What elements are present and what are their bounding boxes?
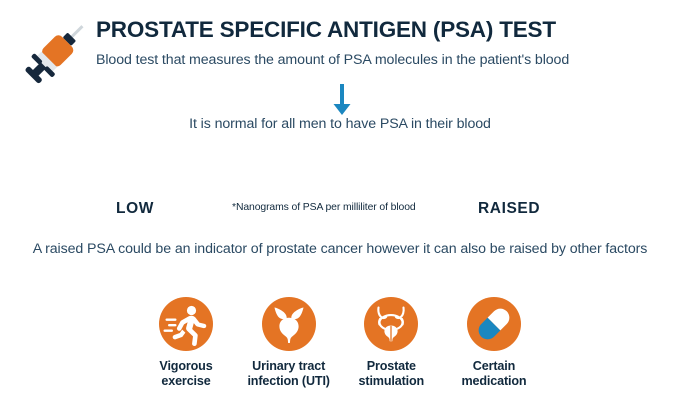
factor-icon-circle: [262, 297, 316, 351]
scale-low-label: LOW: [116, 200, 154, 218]
bladder-icon: [262, 297, 316, 351]
factor-icon-circle: [364, 297, 418, 351]
scale-footnote: *Nanograms of PSA per milliliter of bloo…: [232, 202, 416, 213]
prostate-icon: [364, 297, 418, 351]
scale-low-unit: ng*/ml: [193, 161, 237, 178]
arrow-down-icon: [330, 84, 354, 116]
scale-high-value: 3 ng*/ml: [428, 161, 485, 178]
factor-label: Urinary tract infection (UTI): [247, 359, 329, 390]
page-subtitle: Blood test that measures the amount of P…: [96, 52, 569, 68]
raised-psa-paragraph: A raised PSA could be an indicator of pr…: [26, 238, 654, 260]
scale-high-unit: ng*/ml: [441, 161, 485, 178]
factor-vigorous-exercise: Vigorous exercise: [140, 297, 232, 390]
scale-segment-borderline: [250, 150, 424, 191]
psa-scale-bar: 1ng*/ml 3 ng*/ml: [72, 150, 608, 191]
running-man-icon: [159, 297, 213, 351]
pill-icon: [467, 297, 521, 351]
infographic-page: PROSTATE SPECIFIC ANTIGEN (PSA) TEST Blo…: [0, 0, 680, 402]
page-title: PROSTATE SPECIFIC ANTIGEN (PSA) TEST: [96, 18, 556, 42]
factor-label: Vigorous exercise: [159, 359, 212, 390]
syringe-icon: [18, 14, 96, 92]
normal-statement: It is normal for all men to have PSA in …: [0, 116, 680, 132]
scale-raised-label: RAISED: [478, 200, 540, 218]
scale-low-value: 1ng*/ml: [185, 161, 236, 178]
scale-low-number: 1: [185, 161, 193, 178]
factor-prostate-stimulation: Prostate stimulation: [345, 297, 437, 390]
factor-icon-circle: [467, 297, 521, 351]
factor-urinary-tract-infection: Urinary tract infection (UTI): [243, 297, 335, 390]
factor-label: Certain medication: [461, 359, 526, 390]
scale-high-number: 3: [428, 161, 441, 178]
factor-certain-medication: Certain medication: [448, 297, 540, 390]
factor-icon-circle: [159, 297, 213, 351]
risk-factors-row: Vigorous exercise Urinary tract infectio…: [140, 297, 540, 390]
factor-label: Prostate stimulation: [359, 359, 425, 390]
